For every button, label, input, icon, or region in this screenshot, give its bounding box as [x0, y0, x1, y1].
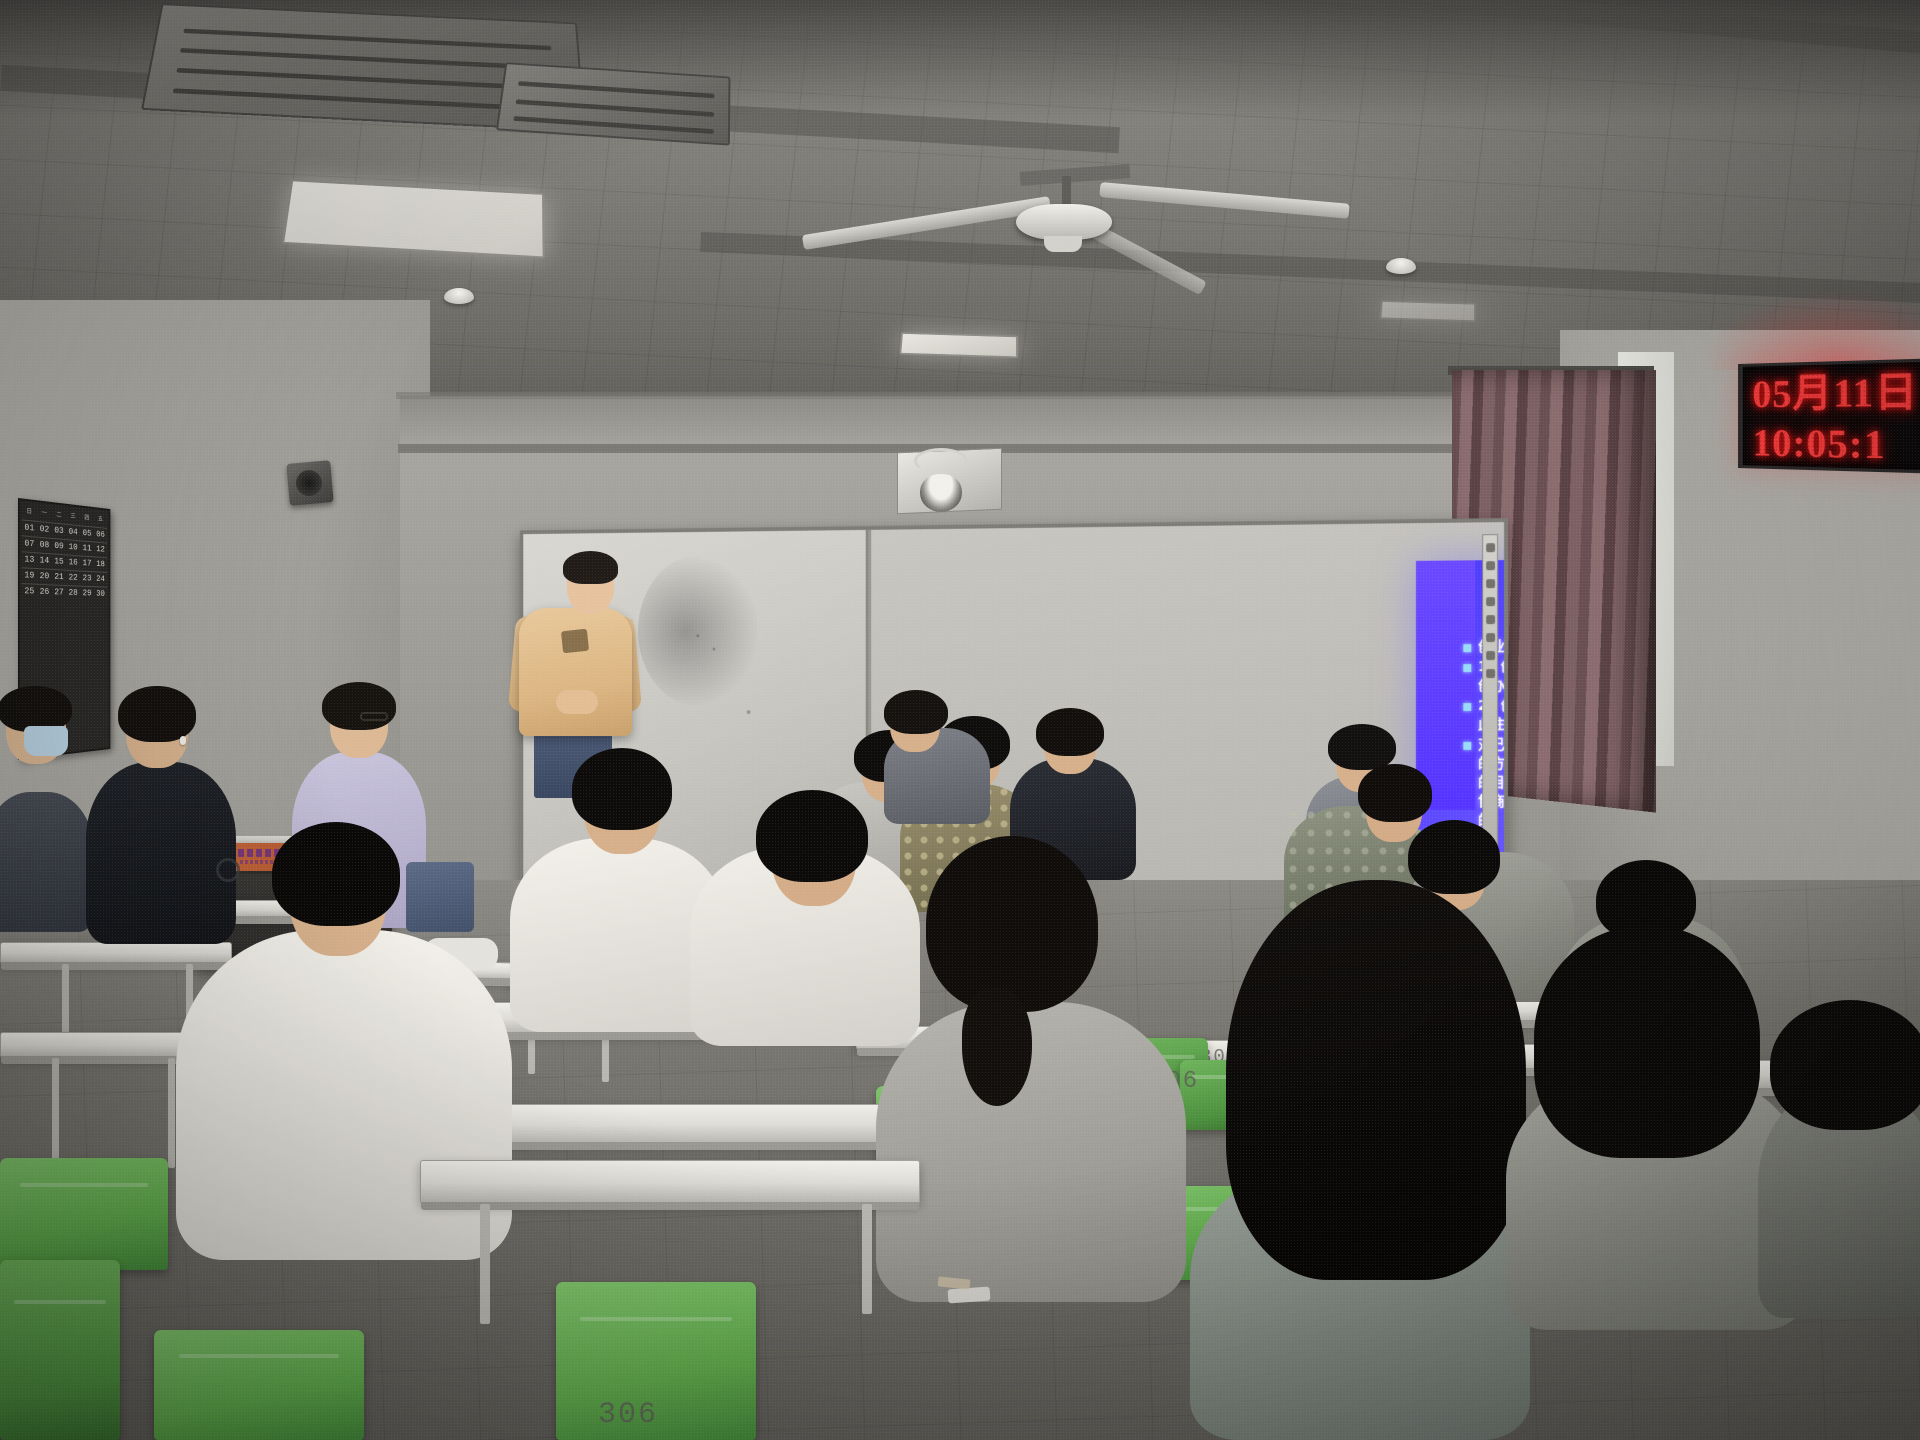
- desk-leg: [480, 1204, 490, 1324]
- led-clock-date: 05月11日: [1753, 366, 1920, 419]
- desk-number-label: 306: [598, 1398, 658, 1432]
- calendar-cell: 23: [81, 573, 93, 583]
- calendar-cell: 16: [67, 557, 80, 567]
- cctv-dome-camera-icon: [920, 474, 962, 512]
- wall-rail: [396, 392, 1586, 399]
- calendar-cell: 25: [22, 586, 36, 596]
- calendar-cell: 04: [67, 527, 80, 538]
- ponytail: [962, 988, 1032, 1106]
- student-hair: [1226, 880, 1526, 1280]
- student-body: [176, 930, 512, 1260]
- calendar-cell: 15: [52, 556, 65, 566]
- calendar-cell: 28: [67, 588, 80, 598]
- calendar-cell: 06: [95, 529, 107, 539]
- wall-upper-strip: [400, 396, 1580, 448]
- calendar-header-cell: 日: [26, 506, 32, 516]
- student-hair: [572, 748, 672, 830]
- calendar-header-cell: 二: [56, 509, 61, 518]
- calendar-cell: 11: [81, 543, 93, 553]
- classroom-photo: 日 一 二 三 四 五 01 02 03 04 05 06 07 08 09 1…: [0, 0, 1920, 1440]
- eyeglasses-icon: [360, 712, 388, 721]
- board-button-icon[interactable]: [1486, 543, 1495, 552]
- calendar-header-cell: 四: [84, 513, 89, 522]
- student-body: [86, 762, 236, 944]
- ceiling-light-panel: [899, 332, 1018, 358]
- calendar-cell: 27: [52, 587, 65, 597]
- desk[interactable]: [420, 1160, 920, 1204]
- student-hair: [272, 822, 400, 926]
- smoke-detector-icon: [1386, 258, 1416, 274]
- ceiling-light-panel: [1379, 300, 1476, 322]
- calendar-cell: 26: [38, 587, 51, 597]
- led-clock-display: 05月11日 10:05:1: [1738, 358, 1920, 474]
- ceiling-fan-motor: [1016, 204, 1112, 240]
- calendar-cell: 12: [95, 544, 107, 554]
- student-trousers: [406, 862, 474, 932]
- presenter-shirt-graphic: [561, 629, 589, 654]
- chair[interactable]: [154, 1330, 364, 1440]
- student-hair: [1358, 764, 1432, 822]
- student-hair: [1408, 820, 1500, 894]
- presenter-shirt: [519, 608, 632, 736]
- calendar-row: 13 14 15 16 17 18: [22, 551, 107, 569]
- smoke-detector-icon: [444, 288, 474, 304]
- calendar-cell: 29: [81, 588, 93, 598]
- desk-object[interactable]: [948, 1287, 991, 1304]
- desk-leg: [168, 1058, 175, 1168]
- bullet-square-icon: [1463, 644, 1471, 652]
- calendar-row: 19 20 21 22 23 24: [22, 567, 107, 584]
- calendar-cell: 17: [81, 558, 93, 568]
- calendar-cell: 21: [52, 572, 65, 582]
- calendar-header-cell: 三: [71, 511, 76, 520]
- presenter-hair: [563, 551, 618, 584]
- board-button-icon[interactable]: [1486, 669, 1495, 678]
- calendar-cell: 07: [22, 538, 36, 549]
- bullet-square-icon: [1463, 664, 1471, 672]
- earbud-icon: [180, 736, 186, 745]
- led-clock-glow: [1700, 290, 1920, 370]
- student-hair: [926, 836, 1098, 1012]
- presenter-shadow: [638, 556, 758, 706]
- board-button-icon[interactable]: [1486, 597, 1495, 606]
- calendar-cell: 14: [38, 555, 51, 566]
- calendar-cell: 13: [22, 554, 36, 565]
- calendar-header-cell: 五: [98, 514, 103, 523]
- desk[interactable]: [0, 942, 232, 964]
- student-hair: [1770, 1000, 1920, 1130]
- calendar-cell: 10: [67, 542, 80, 552]
- board-button-icon[interactable]: [1486, 561, 1495, 570]
- student-body: [0, 792, 94, 932]
- calendar-cell: 20: [38, 571, 51, 581]
- calendar-row: 25 26 27 28 29 30: [22, 583, 107, 599]
- desk-leg: [52, 1058, 59, 1168]
- chair[interactable]: [0, 1260, 120, 1440]
- calendar-cell: 08: [38, 540, 51, 551]
- student-hair: [1328, 724, 1396, 770]
- wall-speaker: [286, 460, 333, 506]
- calendar-cell: 05: [81, 528, 93, 539]
- bullet-square-icon: [1463, 742, 1471, 750]
- calendar-cell: 03: [52, 525, 65, 536]
- student-hair: [1534, 926, 1760, 1158]
- board-button-icon[interactable]: [1486, 615, 1495, 624]
- bullet-square-icon: [1463, 703, 1471, 711]
- desk-leg: [862, 1204, 872, 1314]
- student-hair: [884, 690, 948, 734]
- calendar-cell: 24: [95, 574, 107, 584]
- calendar-cell: 22: [67, 573, 80, 583]
- calendar-cell: 19: [22, 570, 36, 581]
- student-hair: [756, 790, 868, 882]
- student-hair: [322, 682, 396, 730]
- led-clock-time: 10:05:1: [1753, 419, 1920, 473]
- student-hair: [118, 686, 196, 742]
- calendar-cell: 30: [95, 589, 107, 599]
- presenter-hands: [556, 690, 598, 714]
- chair[interactable]: [0, 1158, 168, 1270]
- board-button-icon[interactable]: [1486, 633, 1495, 642]
- calendar-cell: 02: [38, 524, 51, 535]
- ceiling-fan-cap: [1044, 236, 1082, 252]
- cctv-cable: [914, 448, 968, 474]
- calendar-header-cell: 一: [42, 508, 48, 517]
- calendar-cell: 01: [22, 522, 36, 533]
- jacket-logo-icon: [216, 858, 240, 882]
- calendar-cell: 09: [52, 541, 65, 552]
- calendar-cell: 18: [95, 559, 107, 569]
- face-mask: [24, 726, 68, 756]
- board-button-icon[interactable]: [1486, 579, 1495, 588]
- student-hair: [1036, 708, 1104, 756]
- board-button-icon[interactable]: [1486, 651, 1495, 660]
